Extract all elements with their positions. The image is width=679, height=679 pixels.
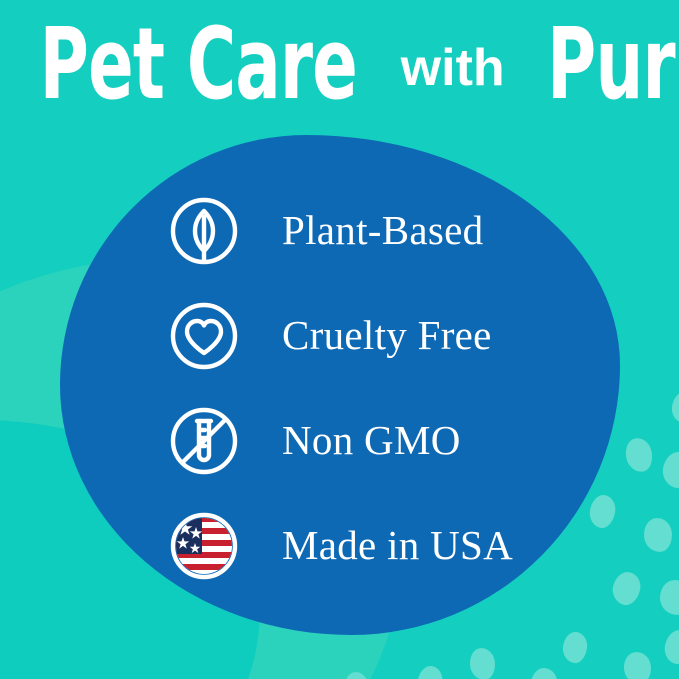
- pet-care-with-purpose-poster: Pet CarewithPurpose® Plant-Based Cr: [0, 0, 679, 679]
- decorative-dot: [623, 436, 656, 475]
- decorative-dot: [662, 628, 679, 667]
- list-item: Plant-Based: [168, 178, 588, 283]
- decorative-dot: [642, 517, 673, 554]
- decorative-dot: [468, 646, 497, 679]
- claims-list: Plant-Based Cruelty Free: [168, 178, 588, 598]
- decorative-dot: [561, 631, 588, 664]
- list-item: Non GMO: [168, 388, 588, 493]
- decorative-dot: [416, 664, 444, 679]
- heart-in-circle-icon: [168, 300, 240, 372]
- claim-label: Cruelty Free: [282, 315, 492, 356]
- no-test-tube-icon: [168, 405, 240, 477]
- decorative-dot: [661, 450, 679, 490]
- headline-part-two: Purpose: [547, 14, 679, 113]
- leaf-in-circle-icon: [168, 195, 240, 267]
- list-item: Made in USA: [168, 493, 588, 598]
- decorative-dot: [530, 667, 558, 679]
- decorative-dot: [621, 650, 653, 679]
- decorative-dot: [609, 569, 643, 608]
- claim-label: Made in USA: [282, 525, 513, 566]
- claim-label: Plant-Based: [282, 210, 483, 251]
- headline-part-one: Pet Care: [40, 14, 357, 113]
- page-title: Pet CarewithPurpose®: [0, 14, 679, 98]
- decorative-dot: [344, 671, 370, 679]
- usa-flag-circle-icon: [168, 510, 240, 582]
- headline-connector: with: [397, 39, 509, 97]
- claim-label: Non GMO: [282, 420, 461, 461]
- decorative-dot: [587, 493, 617, 530]
- decorative-dot: [670, 391, 679, 425]
- list-item: Cruelty Free: [168, 283, 588, 388]
- decorative-dot: [659, 579, 679, 616]
